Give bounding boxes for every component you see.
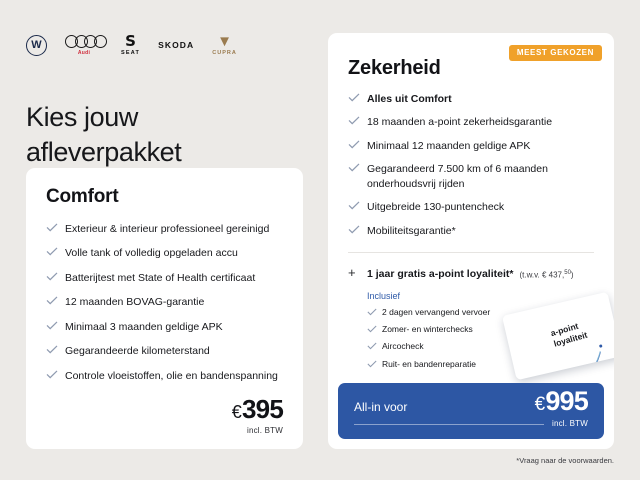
list-item: Minimaal 12 maanden geldige APK <box>348 139 594 153</box>
bonus-value: (t.w.v. € 437,50) <box>519 270 573 280</box>
total-label: All-in voor <box>354 400 407 414</box>
currency-symbol: € <box>535 395 545 414</box>
list-item: Uitgebreide 130-puntencheck <box>348 200 594 214</box>
skoda-logo: SKODA <box>158 40 194 50</box>
loyalty-card-image: a-point loyaliteit <box>502 292 614 381</box>
cupra-icon: ▼ <box>217 34 232 49</box>
check-icon <box>46 272 58 281</box>
comfort-title: Comfort <box>46 186 283 208</box>
check-icon <box>367 308 376 316</box>
footnote: *Vraag naar de voorwaarden. <box>516 456 614 465</box>
check-icon <box>46 345 58 354</box>
check-icon <box>367 360 376 368</box>
feature-text: Minimaal 3 maanden geldige APK <box>65 320 223 334</box>
cupra-wordmark: CUPRA <box>212 50 237 56</box>
feature-text: Mobiliteitsgarantie* <box>367 224 456 238</box>
list-item: Gegarandeerd 7.500 km of 6 maanden onder… <box>348 162 594 191</box>
check-icon <box>348 225 360 234</box>
zekerheid-feature-list: Alles uit Comfort 18 maanden a-point zek… <box>348 92 594 238</box>
inclusief-block: Inclusief 2 dagen vervangend vervoer Zom… <box>367 291 594 369</box>
total-price-bar: All-in voor €995 incl. BTW <box>338 383 604 439</box>
bonus-value-prefix: (t.w.v. € 437, <box>519 270 564 279</box>
check-icon <box>367 325 376 333</box>
feature-text: Minimaal 12 maanden geldige APK <box>367 139 530 153</box>
divider <box>348 252 594 253</box>
price-value: 995 <box>545 388 588 415</box>
seat-icon: S <box>125 34 136 49</box>
bonus-value-sup: 50 <box>564 270 571 276</box>
audi-wordmark: Audi <box>78 50 90 56</box>
feature-text: 18 maanden a-point zekerheidsgarantie <box>367 115 552 129</box>
list-item: 12 maanden BOVAG-garantie <box>46 295 283 309</box>
comfort-price-block: €395 incl. BTW <box>232 396 283 435</box>
feature-text: Batterijtest met State of Health certifi… <box>65 271 255 285</box>
feature-text: Gegarandeerde kilometerstand <box>65 344 210 358</box>
feature-text: Controle vloeistoffen, olie en bandenspa… <box>65 369 278 383</box>
plus-icon: + <box>348 266 360 279</box>
check-icon <box>46 370 58 379</box>
audi-rings-icon <box>65 35 103 48</box>
page-title: Kies jouw afleverpakket <box>26 100 181 169</box>
skoda-wordmark: SKODA <box>158 40 194 50</box>
cupra-logo: ▼ CUPRA <box>212 34 237 56</box>
list-item: Batterijtest met State of Health certifi… <box>46 271 283 285</box>
check-icon <box>348 201 360 210</box>
check-icon <box>348 163 360 172</box>
zekerheid-content: Zekerheid Alles uit Comfort 18 maanden a… <box>328 33 614 370</box>
bonus-label: 1 jaar gratis a-point loyaliteit* <box>367 268 513 280</box>
zekerheid-price-note: incl. BTW <box>535 419 588 428</box>
check-icon <box>46 321 58 330</box>
list-item: Alles uit Comfort <box>348 92 594 106</box>
check-icon <box>348 93 360 102</box>
brand-logo-bar: W Audi S SEAT SKODA ▼ CUPRA <box>26 33 237 57</box>
comfort-feature-list: Exterieur & interieur professioneel gere… <box>46 222 283 383</box>
headline-line-1: Kies jouw <box>26 102 138 132</box>
feature-text: Volle tank of volledig opgeladen accu <box>65 246 238 260</box>
inclusief-title: Inclusief <box>367 291 594 301</box>
total-underline <box>354 424 544 425</box>
zekerheid-price-block: €995 incl. BTW <box>535 388 588 428</box>
comfort-price: €395 <box>232 396 283 422</box>
volkswagen-logo: W <box>26 35 47 56</box>
inclusief-text: 2 dagen vervangend vervoer <box>382 307 490 318</box>
vw-icon: W <box>26 35 47 56</box>
inclusief-text: Ruit- en bandenreparatie <box>382 359 476 370</box>
list-item: Controle vloeistoffen, olie en bandenspa… <box>46 369 283 383</box>
audi-logo: Audi <box>65 35 103 56</box>
feature-text: Uitgebreide 130-puntencheck <box>367 200 504 214</box>
list-item: Volle tank of volledig opgeladen accu <box>46 246 283 260</box>
zekerheid-title: Zekerheid <box>348 57 594 80</box>
list-item: 18 maanden a-point zekerheidsgarantie <box>348 115 594 129</box>
list-item: Minimaal 3 maanden geldige APK <box>46 320 283 334</box>
feature-text: Gegarandeerd 7.500 km of 6 maanden onder… <box>367 162 594 191</box>
seat-wordmark: SEAT <box>121 50 140 56</box>
check-icon <box>46 247 58 256</box>
package-card-zekerheid[interactable]: MEEST GEKOZEN Zekerheid Alles uit Comfor… <box>328 33 614 449</box>
currency-symbol: € <box>232 403 241 421</box>
feature-text: 12 maanden BOVAG-garantie <box>65 295 204 309</box>
list-item: Gegarandeerde kilometerstand <box>46 344 283 358</box>
comfort-price-note: incl. BTW <box>232 426 283 435</box>
check-icon <box>46 223 58 232</box>
package-card-comfort[interactable]: Comfort Exterieur & interieur profession… <box>26 168 303 449</box>
seat-logo: S SEAT <box>121 34 140 56</box>
check-icon <box>348 140 360 149</box>
headline-line-2: afleverpakket <box>26 137 181 167</box>
zekerheid-price: €995 <box>535 388 588 415</box>
list-item: Mobiliteitsgarantie* <box>348 224 594 238</box>
price-value: 395 <box>242 396 283 422</box>
inclusief-text: Zomer- en winterchecks <box>382 324 473 335</box>
promo-page: W Audi S SEAT SKODA ▼ CUPRA Kies jouw af… <box>0 0 640 480</box>
bonus-row: + 1 jaar gratis a-point loyaliteit* (t.w… <box>348 266 594 280</box>
check-icon <box>348 116 360 125</box>
check-icon <box>367 342 376 350</box>
check-icon <box>46 296 58 305</box>
feature-text: Alles uit Comfort <box>367 92 452 106</box>
list-item: Exterieur & interieur professioneel gere… <box>46 222 283 236</box>
feature-text: Exterieur & interieur professioneel gere… <box>65 222 269 236</box>
bonus-value-suffix: ) <box>571 270 574 279</box>
inclusief-text: Aircocheck <box>382 341 424 352</box>
